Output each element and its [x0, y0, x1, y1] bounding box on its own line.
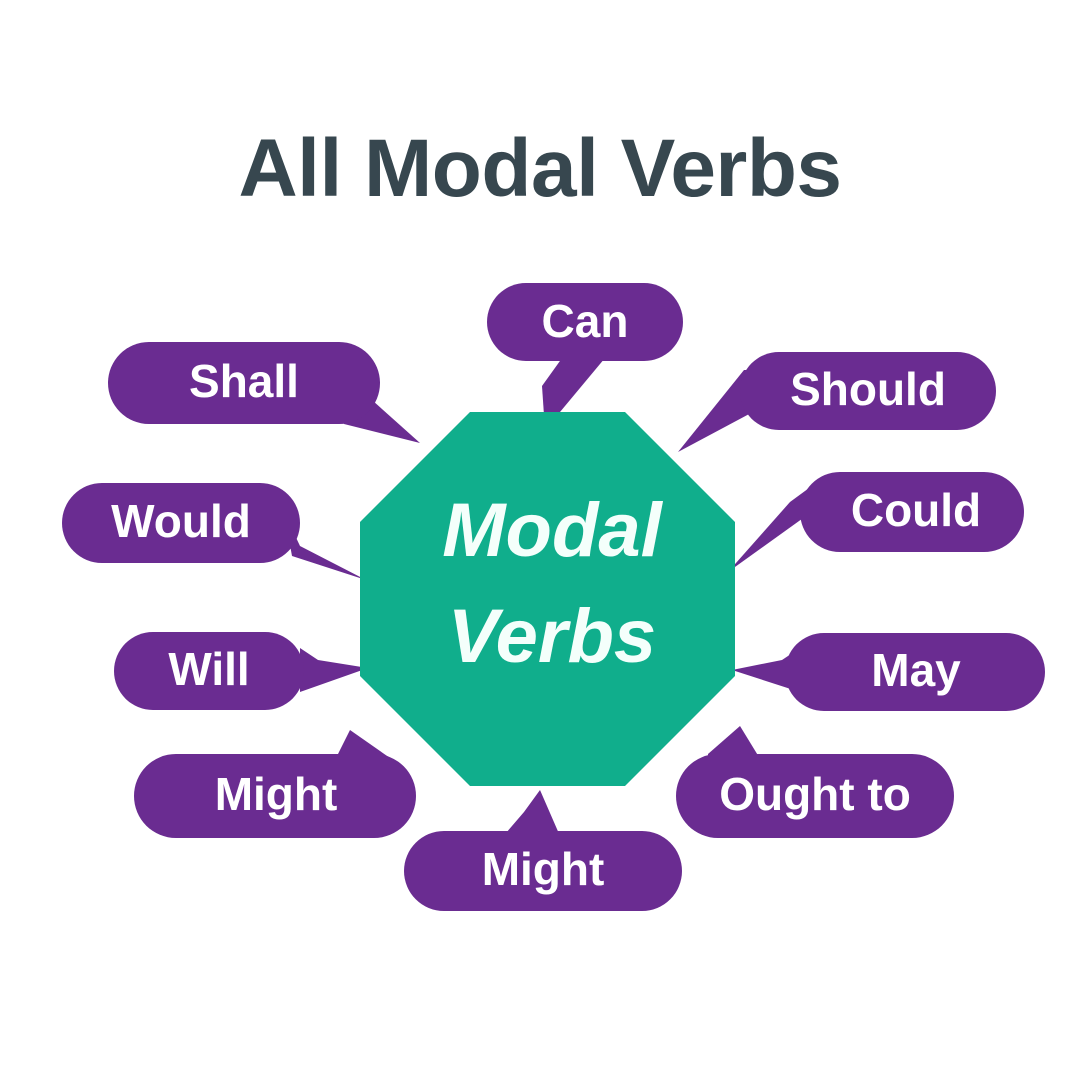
bubble-ought-to[interactable]: Ought to — [676, 754, 954, 838]
bubble-might-1-label: Might — [215, 768, 338, 820]
center-label-line2: Verbs — [448, 594, 656, 679]
bubble-could-label: Could — [851, 484, 981, 536]
bubble-will[interactable]: Will — [114, 632, 304, 710]
bubble-may-label: May — [871, 644, 961, 696]
bubble-should-label: Should — [790, 363, 946, 415]
bubble-ought-to-label: Ought to — [719, 768, 911, 820]
bubble-can-label: Can — [542, 295, 629, 347]
bubble-might-1[interactable]: Might — [134, 754, 416, 838]
center-label-line1: Modal — [442, 488, 663, 573]
bubble-might-2[interactable]: Might — [404, 831, 682, 911]
bubble-could[interactable]: Could — [800, 472, 1024, 552]
bubble-may[interactable]: May — [785, 633, 1045, 711]
bubble-might-2-label: Might — [482, 843, 605, 895]
bubble-should[interactable]: Should — [740, 352, 996, 430]
diagram-canvas: All Modal Verbs Modal Verbs Can — [0, 0, 1080, 1080]
tail-will — [300, 648, 368, 692]
bubble-shall-label: Shall — [189, 355, 299, 407]
center-node[interactable]: Modal Verbs — [360, 412, 735, 786]
bubble-would[interactable]: Would — [62, 483, 300, 563]
modal-verbs-diagram: Modal Verbs Can Shall Should Would Could… — [0, 0, 1080, 1080]
bubble-would-label: Would — [111, 495, 251, 547]
bubble-can[interactable]: Can — [487, 283, 683, 361]
bubble-will-label: Will — [168, 643, 249, 695]
bubble-shall[interactable]: Shall — [108, 342, 380, 424]
